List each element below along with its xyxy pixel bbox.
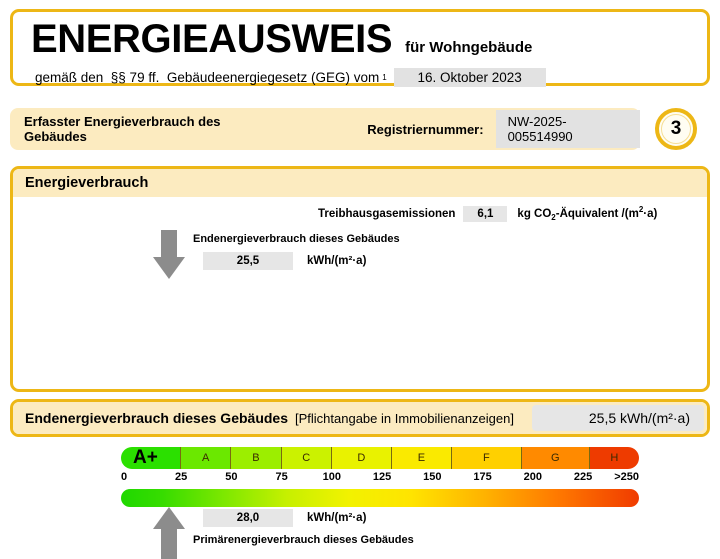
energy-scale-tick-labels: 0255075100125150175200225>250 [121,471,639,487]
greenhouse-gas-value: 6,1 [463,206,507,222]
energy-grade-f: F [452,447,522,469]
footer-note: [Pflichtangabe in Immobilienanzeigen] [295,411,514,426]
footer-panel: Endenergieverbrauch dieses Gebäudes [Pfl… [10,399,710,437]
primary-energy-unit: kWh/(m²·a) [307,512,366,524]
energy-grade-h: H [590,447,639,469]
primary-energy-value-row: 28,0 kWh/(m²·a) [203,509,366,527]
header-title-row: ENERGIEAUSWEIS für Wohngebäude [31,17,697,65]
scale-tick-10: >250 [614,471,639,483]
header-panel: ENERGIEAUSWEIS für Wohngebäude gemäß den… [10,9,710,86]
page-number-badge: 3 [655,108,697,150]
scale-tick-5: 125 [373,471,391,483]
energy-consumption-panel: Energieverbrauch Treibhausgasemissionen … [10,166,710,392]
scale-tick-9: 225 [574,471,592,483]
energy-grade-a: A [181,447,231,469]
registration-strip: Erfasster Energieverbrauch des Gebäudes … [10,108,640,150]
greenhouse-gas-unit: kg CO2-Äquivalent /(m2·a) [517,205,657,222]
scale-tick-7: 175 [473,471,491,483]
legal-basis-text: gemäß den §§ 79 ff. Gebäudeenergiegesetz… [35,70,379,85]
energy-scale-bar: A+ABCDEFGH [121,447,639,469]
footer-label: Endenergieverbrauch dieses Gebäudes [25,410,288,426]
legal-basis-row: gemäß den §§ 79 ff. Gebäudeenergiegesetz… [35,67,697,87]
energy-grade-g: G [522,447,590,469]
primary-energy-marker-arrow-icon [153,507,185,559]
end-energy-value-row: 25,5 kWh/(m²·a) [203,252,366,270]
footer-value: 25,5 kWh/(m²·a) [532,405,704,431]
footnote-marker: 1 [382,73,386,82]
issue-date-value: 16. Oktober 2023 [394,68,546,87]
energy-grade-d: D [332,447,392,469]
end-energy-callout: Endenergieverbrauch dieses Gebäudes 25,5… [193,233,613,277]
scale-tick-4: 100 [323,471,341,483]
greenhouse-gas-row: Treibhausgasemissionen 6,1 kg CO2-Äquiva… [13,205,707,223]
end-energy-label: Endenergieverbrauch dieses Gebäudes [193,233,400,245]
energy-certificate-page: ENERGIEAUSWEIS für Wohngebäude gemäß den… [0,0,720,444]
scale-tick-0: 0 [121,471,127,483]
scale-tick-3: 75 [275,471,287,483]
energy-grade-e: E [392,447,452,469]
primary-energy-gradient-bar [121,489,639,507]
energy-efficiency-scale: A+ABCDEFGH [121,447,639,469]
energy-grade-b: B [231,447,281,469]
registration-number-label: Registriernummer: [367,122,483,137]
greenhouse-gas-label: Treibhausgasemissionen [318,208,455,220]
scale-tick-6: 150 [423,471,441,483]
end-energy-unit: kWh/(m²·a) [307,255,366,267]
primary-energy-callout: 28,0 kWh/(m²·a) Primärenergieverbrauch d… [193,509,623,553]
scale-tick-8: 200 [524,471,542,483]
certificate-type-label: Erfasster Energieverbrauch des Gebäudes [24,114,279,144]
document-subtitle: für Wohngebäude [405,38,532,58]
primary-energy-value: 28,0 [203,509,293,527]
energy-grade-aplus: A+ [121,447,181,469]
scale-tick-1: 25 [175,471,187,483]
page-title: ENERGIEAUSWEIS [31,17,392,61]
section-header: Energieverbrauch [13,169,707,197]
footer-strip: Endenergieverbrauch dieses Gebäudes [Pfl… [13,402,707,434]
scale-tick-2: 50 [225,471,237,483]
end-energy-value: 25,5 [203,252,293,270]
section-title: Energieverbrauch [25,175,148,191]
registration-number-value: NW-2025-005514990 [496,110,640,148]
end-energy-marker-arrow-icon [153,230,185,280]
energy-grade-c: C [282,447,332,469]
primary-energy-label: Primärenergieverbrauch dieses Gebäudes [193,534,414,546]
